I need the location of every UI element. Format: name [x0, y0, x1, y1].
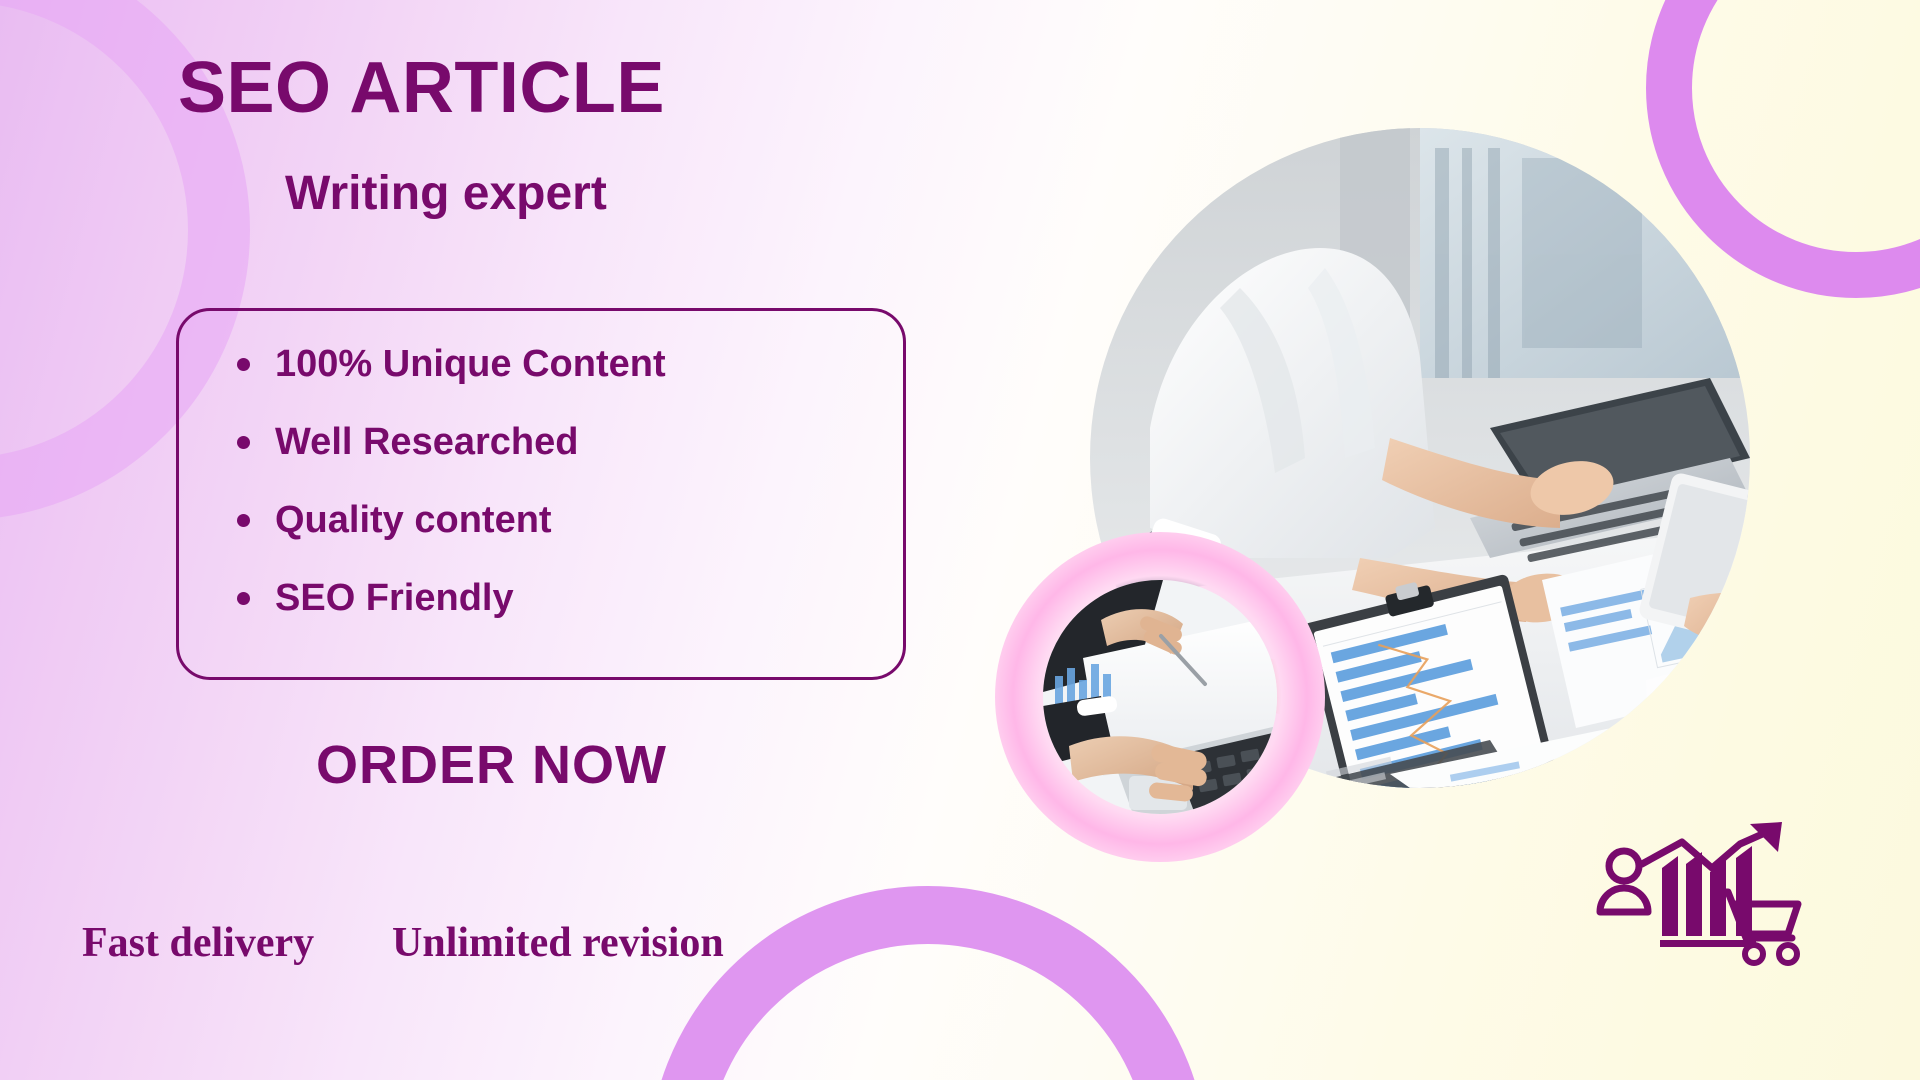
- list-item: Quality content: [233, 501, 903, 539]
- growth-chart-cart-glyph: [1590, 820, 1810, 970]
- page-subtitle: Writing expert: [285, 170, 607, 218]
- list-item: SEO Friendly: [233, 579, 903, 617]
- tagline-fast-delivery: Fast delivery: [82, 922, 314, 964]
- tagline-unlimited-revision: Unlimited revision: [392, 922, 724, 964]
- decorative-ring-bottom: [648, 886, 1208, 1080]
- features-list: 100% Unique Content Well Researched Qual…: [179, 311, 903, 617]
- small-photo-halo: [995, 532, 1325, 862]
- growth-chart-cart-icon: [1590, 820, 1810, 970]
- order-now-button[interactable]: ORDER NOW: [316, 738, 667, 792]
- list-item: Well Researched: [233, 423, 903, 461]
- typing-hands-photo: [1043, 580, 1277, 814]
- features-box: 100% Unique Content Well Researched Qual…: [176, 308, 906, 680]
- poster-canvas: SEO ARTICLE Writing expert 100% Unique C…: [0, 0, 1920, 1080]
- decorative-ring-top-right: [1646, 0, 1920, 298]
- page-title: SEO ARTICLE: [178, 52, 665, 124]
- small-photo: [1043, 580, 1277, 814]
- list-item: 100% Unique Content: [233, 345, 903, 383]
